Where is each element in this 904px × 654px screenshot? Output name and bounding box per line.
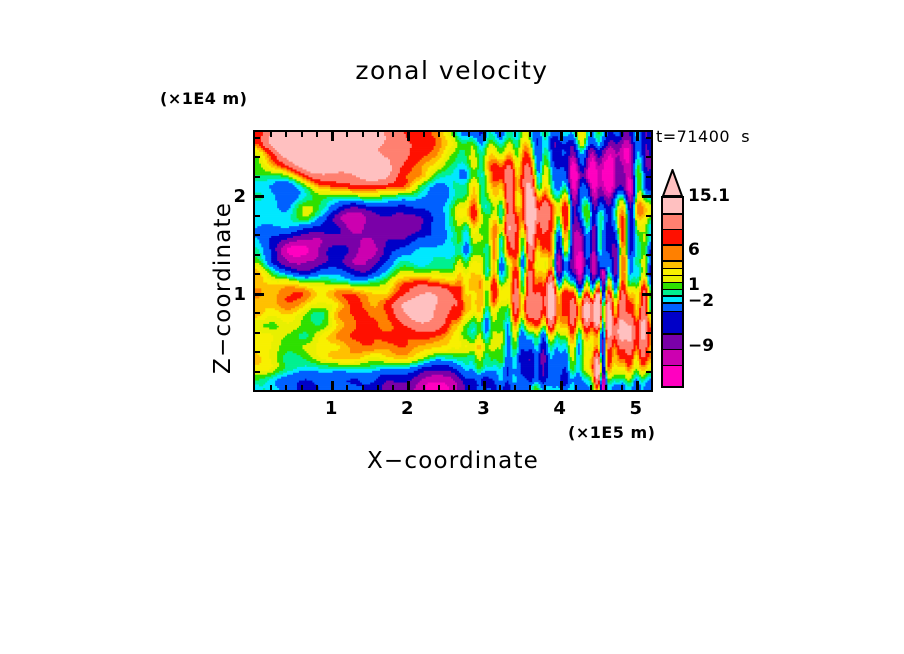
y-tick-label: 2 (222, 186, 246, 207)
tick-mark (438, 132, 440, 137)
tick-mark (544, 385, 546, 390)
tick-mark (438, 385, 440, 390)
tick-mark (605, 132, 607, 137)
tick-mark (255, 234, 260, 236)
colorbar-band-divider (663, 260, 682, 262)
tick-mark (468, 132, 470, 137)
tick-mark (642, 293, 651, 296)
colorbar-tick-label: 6 (688, 240, 700, 260)
tick-mark (270, 132, 272, 137)
tick-mark (646, 215, 651, 217)
tick-mark (255, 215, 260, 217)
tick-mark (468, 385, 470, 390)
colorbar-band-divider (663, 349, 682, 351)
tick-mark (255, 195, 264, 198)
colorbar-band (663, 334, 682, 350)
colorbar-band-divider (663, 311, 682, 313)
colorbar-band-divider (663, 268, 682, 270)
colorbar (661, 196, 684, 388)
tick-mark (560, 132, 563, 141)
tick-mark (453, 132, 455, 137)
colorbar-tick-label: −2 (688, 291, 714, 311)
tick-mark (646, 312, 651, 314)
tick-mark (285, 385, 287, 390)
tick-mark (646, 351, 651, 353)
tick-mark (575, 132, 577, 137)
tick-mark (636, 381, 639, 390)
x-tick-label: 5 (621, 398, 651, 419)
tick-mark (255, 273, 260, 275)
x-tick-label: 4 (545, 398, 575, 419)
colorbar-band-divider (663, 213, 682, 215)
tick-mark (646, 254, 651, 256)
tick-mark (301, 385, 303, 390)
tick-mark (255, 371, 260, 373)
x-tick-label: 3 (468, 398, 498, 419)
y-tick-label: 1 (222, 284, 246, 305)
tick-mark (529, 385, 531, 390)
tick-mark (255, 351, 260, 353)
tick-mark (646, 371, 651, 373)
tick-mark (560, 381, 563, 390)
tick-mark (646, 156, 651, 158)
tick-mark (483, 381, 486, 390)
colorbar-band-divider (663, 333, 682, 335)
tick-mark (377, 385, 379, 390)
colorbar-band-divider (663, 244, 682, 246)
tick-mark (529, 132, 531, 137)
tick-mark (642, 195, 651, 198)
tick-mark (377, 132, 379, 137)
tick-mark (255, 176, 260, 178)
tick-mark (255, 137, 260, 139)
y-axis-unit-label: (×1E4 m) (160, 91, 247, 107)
tick-mark (514, 132, 516, 137)
tick-mark (407, 132, 410, 141)
tick-mark (423, 385, 425, 390)
tick-mark (362, 385, 364, 390)
tick-mark (544, 132, 546, 137)
colorbar-band (663, 311, 682, 333)
colorbar-band-divider (663, 282, 682, 284)
tick-mark (331, 381, 334, 390)
tick-mark (646, 273, 651, 275)
tick-mark (423, 132, 425, 137)
x-axis-unit-label: (×1E5 m) (568, 425, 655, 441)
tick-mark (499, 132, 501, 137)
time-annotation: t=71400 s (656, 129, 750, 145)
tick-mark (331, 132, 334, 141)
tick-mark (255, 293, 264, 296)
colorbar-band (663, 198, 682, 214)
tick-mark (621, 132, 623, 137)
tick-mark (316, 132, 318, 137)
tick-mark (362, 132, 364, 137)
tick-mark (590, 385, 592, 390)
colorbar-band-divider (663, 229, 682, 231)
x-tick-label: 1 (316, 398, 346, 419)
tick-mark (255, 156, 260, 158)
chart-title: zonal velocity (0, 58, 904, 83)
colorbar-band (663, 214, 682, 230)
tick-mark (346, 385, 348, 390)
tick-mark (514, 385, 516, 390)
tick-mark (646, 332, 651, 334)
tick-mark (646, 176, 651, 178)
colorbar-band (663, 365, 682, 386)
tick-mark (646, 137, 651, 139)
colorbar-tick-label: 15.1 (688, 186, 730, 206)
x-tick-label: 2 (392, 398, 422, 419)
colorbar-tick-label: −9 (688, 336, 714, 356)
tick-mark (605, 385, 607, 390)
tick-mark (255, 254, 260, 256)
figure-canvas: zonal velocity (×1E4 m) t=71400 s X−coor… (0, 0, 904, 654)
colorbar-band-divider (663, 295, 682, 297)
tick-mark (392, 132, 394, 137)
tick-mark (316, 385, 318, 390)
colorbar-band (663, 350, 682, 366)
tick-mark (646, 234, 651, 236)
tick-mark (483, 132, 486, 141)
tick-mark (301, 132, 303, 137)
tick-mark (255, 312, 260, 314)
tick-mark (392, 385, 394, 390)
colorbar-band (663, 229, 682, 245)
tick-mark (575, 385, 577, 390)
tick-mark (590, 132, 592, 137)
tick-mark (621, 385, 623, 390)
tick-mark (453, 385, 455, 390)
colorbar-band-divider (663, 365, 682, 367)
colorbar-band-divider (663, 289, 682, 291)
tick-mark (270, 385, 272, 390)
x-axis-title: X−coordinate (253, 450, 653, 473)
colorbar-band-divider (663, 275, 682, 277)
plot-frame (253, 130, 653, 392)
tick-mark (346, 132, 348, 137)
tick-mark (499, 385, 501, 390)
colorbar-band-divider (663, 302, 682, 304)
tick-mark (285, 132, 287, 137)
tick-mark (407, 381, 410, 390)
colorbar-band (663, 245, 682, 261)
tick-mark (636, 132, 639, 141)
tick-mark (255, 332, 260, 334)
colorbar-arrow-head (661, 169, 684, 197)
